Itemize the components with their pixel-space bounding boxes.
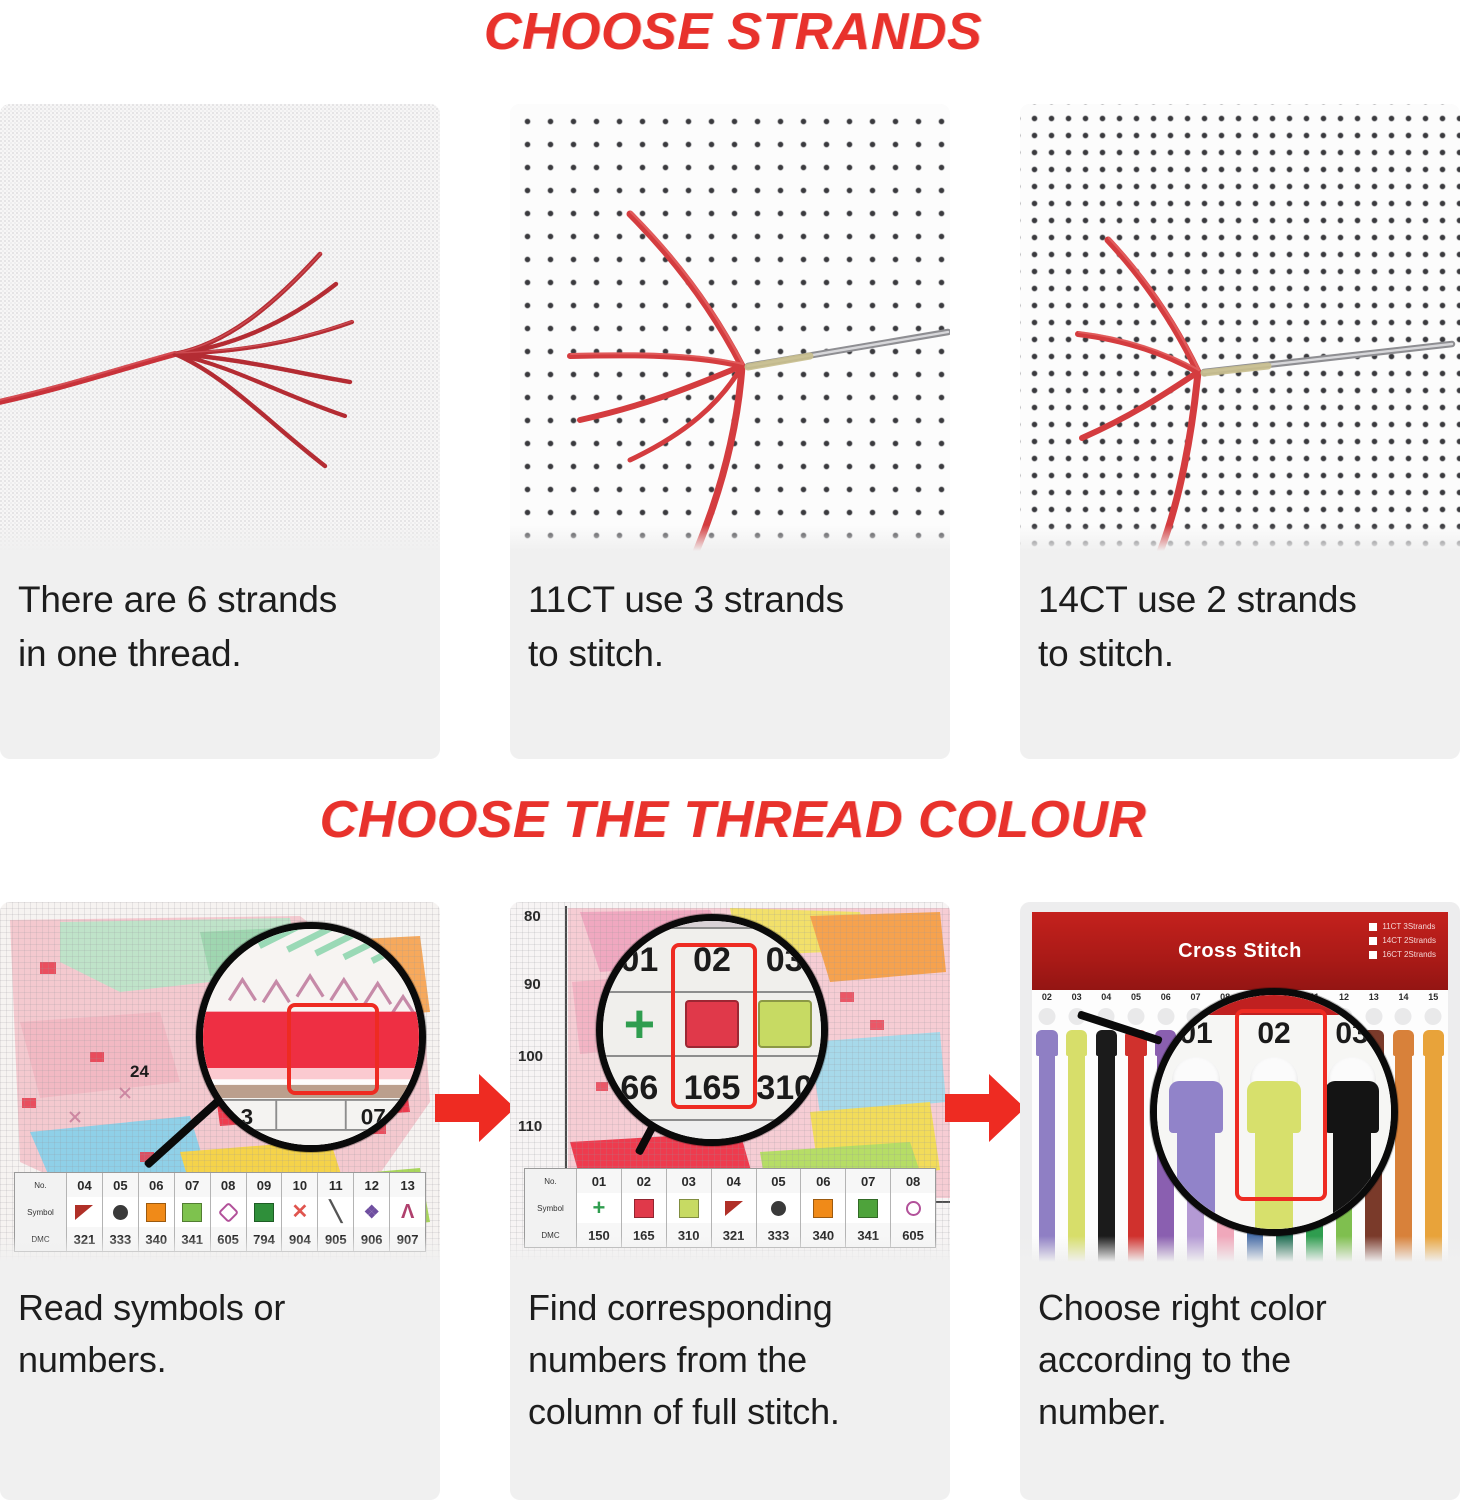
circle-dark-icon (771, 1201, 786, 1216)
svg-text:3: 3 (241, 1104, 254, 1129)
triangle-filled-icon (725, 1201, 743, 1216)
caption-line-2: numbers from the (528, 1334, 932, 1386)
legend-cell-no: 07 (175, 1173, 211, 1197)
square-darkgreen-icon (254, 1203, 274, 1222)
caption-line-1: Choose right color (1038, 1282, 1442, 1334)
caption-14ct: 14CT use 2 strands to stitch. (1020, 551, 1460, 681)
legend-head-symbol: Symbol (15, 1197, 67, 1227)
legend-cell-no: 06 (139, 1173, 175, 1197)
checkbox-icon[interactable] (1369, 951, 1377, 959)
chart-row-marker: 24 (130, 1062, 149, 1082)
needle-icon (748, 332, 948, 367)
x-cross-icon: ✕ (292, 1202, 309, 1222)
legend-cell-symbol (801, 1193, 846, 1223)
backslash-icon: ╲ (330, 1202, 342, 1222)
section-title-choose-strands: CHOOSE STRANDS (0, 2, 1466, 62)
thread-skein (1032, 1030, 1062, 1262)
thread-skein (1062, 1030, 1092, 1262)
next-step-arrow-icon (943, 1070, 1027, 1146)
column-gap (440, 104, 510, 759)
hexagon-outline-icon (906, 1201, 921, 1216)
column-gap-with-arrow (950, 902, 1020, 1500)
hook-hole-icon (1395, 1008, 1412, 1025)
caption-read-symbols: Read symbols or numbers. (0, 1262, 440, 1386)
caption-line-1: 14CT use 2 strands (1038, 573, 1442, 627)
panel-bottom-fade (0, 1236, 440, 1262)
caption-line-2: to stitch. (528, 627, 932, 681)
legend-cell-symbol: ╲ (318, 1197, 354, 1227)
six-strands-illustration (0, 104, 440, 551)
legend-cell-symbol (211, 1197, 247, 1227)
photo-11ct-needle (510, 104, 950, 551)
legend-cell-symbol (891, 1193, 935, 1223)
panel-bottom-fade (510, 1236, 950, 1262)
magnified-cell-dmc: 66 (603, 1057, 676, 1119)
legend-cell-no: 09 (247, 1173, 283, 1197)
magnified-cell-no: 01 (603, 929, 676, 991)
legend-row-symbols: Symbol + (525, 1193, 935, 1223)
card-check-option: 14CT 2Strands (1369, 936, 1436, 945)
legend-row-numbers: No. 04 05 06 07 08 09 10 11 12 13 (15, 1173, 425, 1197)
fabric-bottom-fade (1020, 525, 1460, 551)
legend-cell-symbol: + (577, 1193, 622, 1223)
legend-cell-no: 01 (577, 1169, 622, 1193)
legend-cell-no: 11 (318, 1173, 354, 1197)
legend-cell-no: 05 (757, 1169, 802, 1193)
legend-cell-symbol (667, 1193, 712, 1223)
square-green-icon (182, 1203, 202, 1222)
magnified-thread-slot: 01 (1157, 995, 1235, 1229)
card-check-option: 11CT 3Strands (1369, 922, 1436, 931)
legend-cell-symbol (846, 1193, 891, 1223)
axis-tick-label: 110 (518, 1118, 542, 1135)
panel-bottom-fade (1020, 1236, 1460, 1262)
photo-pattern-chart: 24 (0, 902, 440, 1262)
caption-line-1: Read symbols or (18, 1282, 422, 1334)
legend-cell-no: 08 (211, 1173, 247, 1197)
section-title-choose-thread-colour: CHOOSE THE THREAD COLOUR (0, 790, 1466, 850)
card-check-label: 16CT 2Strands (1382, 950, 1436, 959)
magnifier-circle-legend: 01 02 03 + (596, 914, 828, 1146)
magnified-cell-symbol (748, 993, 821, 1055)
card-header-band: Cross Stitch 11CT 3Strands 14CT 2Strands… (1032, 912, 1448, 990)
hook-number: 05 (1131, 992, 1141, 1002)
square-red-icon (634, 1199, 654, 1218)
checkbox-icon[interactable] (1369, 923, 1377, 931)
checkbox-icon[interactable] (1369, 937, 1377, 945)
photo-six-strands (0, 104, 440, 551)
legend-cell-no: 04 (712, 1169, 757, 1193)
photo-14ct-needle (1020, 104, 1460, 551)
legend-cell-symbol (712, 1193, 757, 1223)
plus-green-icon: + (624, 997, 656, 1051)
legend-cell-no: 04 (67, 1173, 103, 1197)
magnifier-highlight-box (287, 1003, 379, 1095)
legend-cell-symbol (622, 1193, 667, 1223)
legend-cell-symbol (175, 1197, 211, 1227)
plus-green-icon: + (593, 1197, 606, 1219)
card-strand-options: 11CT 3Strands 14CT 2Strands 16CT 2Strand… (1369, 922, 1436, 959)
leaf-icon: ❖ (364, 1203, 380, 1221)
legend-head-symbol: Symbol (525, 1193, 577, 1223)
legend-cell-symbol (103, 1197, 139, 1227)
hook-number: 04 (1101, 992, 1111, 1002)
triangle-filled-icon (75, 1205, 93, 1220)
hook-number: 15 (1428, 992, 1438, 1002)
panel-14ct-two-strands: 14CT use 2 strands to stitch. (1020, 104, 1460, 759)
legend-row-symbols: Symbol ✕ ╲ ❖ Λ (15, 1197, 425, 1227)
legend-cell-no: 05 (103, 1173, 139, 1197)
caption-11ct: 11CT use 3 strands to stitch. (510, 551, 950, 681)
caption-find-numbers: Find corresponding numbers from the colu… (510, 1262, 950, 1438)
square-yellowgreen-icon (679, 1199, 699, 1218)
hook-number: 03 (1072, 992, 1082, 1002)
magnifier-highlight-box (671, 943, 757, 1109)
needle-and-three-strands-illustration (510, 104, 950, 551)
magnifier-circle-pattern: 3 07 (196, 922, 426, 1152)
legend-cell-no: 13 (390, 1173, 425, 1197)
legend-cell-no: 08 (891, 1169, 935, 1193)
caption-six-strands: There are 6 strands in one thread. (0, 551, 440, 681)
next-step-arrow-icon (433, 1070, 517, 1146)
legend-cell-no: 02 (622, 1169, 667, 1193)
infographic-page: CHOOSE STRANDS (0, 0, 1466, 1500)
thread-colour-panel-row: 24 (0, 902, 1466, 1500)
panel-read-symbols: 24 (0, 902, 440, 1500)
hook-number: 14 (1398, 992, 1408, 1002)
square-orange-icon (146, 1203, 166, 1222)
card-title: Cross Stitch (1178, 940, 1302, 963)
legend-head-no: No. (15, 1173, 67, 1197)
caption-line-3: number. (1038, 1386, 1442, 1438)
svg-text:07: 07 (361, 1104, 386, 1129)
panel-find-numbers: 80 90 100 110 01 02 03 (510, 902, 950, 1500)
photo-pattern-chart-with-axis: 80 90 100 110 01 02 03 (510, 902, 950, 1262)
caption-line-2: according to the (1038, 1334, 1442, 1386)
legend-cell-symbol: ❖ (354, 1197, 390, 1227)
legend-cell-no: 07 (846, 1169, 891, 1193)
card-check-option: 16CT 2Strands (1369, 950, 1436, 959)
caption-line-2: numbers. (18, 1334, 422, 1386)
thread-skein (1418, 1030, 1448, 1262)
axis-tick-label: 80 (524, 908, 541, 925)
magnifier-circle-threads: 01 02 03 (1150, 988, 1398, 1236)
magnified-cell-no: 03 (748, 929, 821, 991)
magnified-cell-symbol: + (603, 993, 676, 1055)
legend-cell-symbol: Λ (390, 1197, 425, 1227)
column-gap-with-arrow (440, 902, 510, 1500)
legend-cell-symbol: ✕ (282, 1197, 318, 1227)
legend-cell-no: 12 (354, 1173, 390, 1197)
legend-cell-symbol (67, 1197, 103, 1227)
axis-tick-label: 90 (524, 976, 541, 993)
magnifier-highlight-box (1235, 1009, 1327, 1201)
legend-cell-symbol (757, 1193, 802, 1223)
legend-row-numbers: No. 01 02 03 04 05 06 07 08 (525, 1169, 935, 1193)
column-gap (950, 104, 1020, 759)
circle-dark-icon (113, 1205, 128, 1220)
legend-cell-no: 10 (282, 1173, 318, 1197)
caption-line-2: in one thread. (18, 627, 422, 681)
panel-choose-color: Cross Stitch 11CT 3Strands 14CT 2Strands… (1020, 902, 1460, 1500)
thread-skein (1091, 1030, 1121, 1262)
square-green-icon (858, 1199, 878, 1218)
legend-cell-no: 06 (801, 1169, 846, 1193)
needle-and-two-strands-illustration (1020, 104, 1460, 551)
hook-number: 02 (1042, 992, 1052, 1002)
legend-cell-no: 03 (667, 1169, 712, 1193)
caption-line-1: Find corresponding (528, 1282, 932, 1334)
thread-skein (1121, 1030, 1151, 1262)
panel-there-are-6-strands: There are 6 strands in one thread. (0, 104, 440, 759)
fabric-bottom-fade (0, 525, 440, 551)
hook-hole-icon (1038, 1008, 1055, 1025)
caption-line-1: 11CT use 3 strands (528, 573, 932, 627)
caption-line-3: column of full stitch. (528, 1386, 932, 1438)
magnified-cell-dmc: 310 (748, 1057, 821, 1119)
legend-head-no: No. (525, 1169, 577, 1193)
legend-cell-symbol (247, 1197, 283, 1227)
card-check-label: 14CT 2Strands (1382, 936, 1436, 945)
hook-hole-icon (1128, 1008, 1145, 1025)
strands-panel-row: There are 6 strands in one thread. (0, 104, 1466, 759)
photo-thread-card: Cross Stitch 11CT 3Strands 14CT 2Strands… (1020, 902, 1460, 1262)
caption-line-2: to stitch. (1038, 627, 1442, 681)
card-check-label: 11CT 3Strands (1382, 922, 1435, 931)
square-yellowgreen-icon (758, 1000, 812, 1048)
caption-line-1: There are 6 strands (18, 573, 422, 627)
caret-icon: Λ (401, 1202, 414, 1222)
axis-tick-label: 100 (518, 1048, 543, 1065)
hexagon-outline-icon (217, 1201, 238, 1222)
magnified-thread-number: 01 (1157, 1017, 1235, 1051)
legend-cell-symbol (139, 1197, 175, 1227)
needle-icon (1204, 344, 1452, 373)
fabric-bottom-fade (510, 525, 950, 551)
square-orange-icon (813, 1199, 833, 1218)
hook-hole-icon (1425, 1008, 1442, 1025)
panel-11ct-three-strands: 11CT use 3 strands to stitch. (510, 104, 950, 759)
caption-choose-color: Choose right color according to the numb… (1020, 1262, 1460, 1438)
